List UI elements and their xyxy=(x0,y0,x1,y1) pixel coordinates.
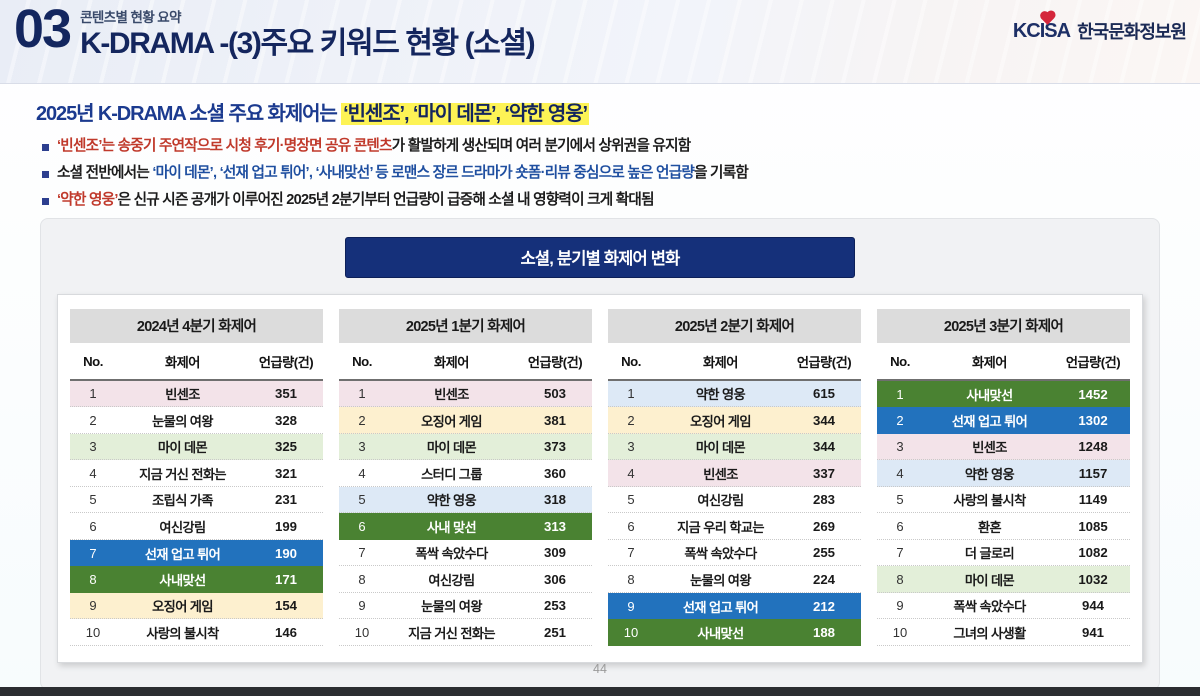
cell-value: 224 xyxy=(787,572,861,587)
cell-name: 오징어 게임 xyxy=(654,411,787,430)
bullet-plain-2: 을 기록함 xyxy=(694,165,748,181)
table-row: 8마이 데몬1032 xyxy=(877,566,1130,593)
quarter-table-title: 2025년 2분기 화제어 xyxy=(608,309,861,343)
col-header-name: 화제어 xyxy=(116,352,249,371)
cell-name: 지금 거신 전화는 xyxy=(116,464,249,483)
cell-name: 마이 데몬 xyxy=(385,437,518,456)
cell-no: 3 xyxy=(70,439,116,454)
cell-value: 373 xyxy=(518,439,592,454)
cell-name: 빈센조 xyxy=(923,437,1056,456)
cell-name: 사내 맞선 xyxy=(385,517,518,536)
table-body: 1빈센조351 2눈물의 여왕328 3마이 데몬325 4지금 거신 전화는3… xyxy=(70,381,323,646)
table-row: 2오징어 게임344 xyxy=(608,407,861,434)
cell-value: 146 xyxy=(249,625,323,640)
bullet-marker-icon xyxy=(42,144,49,151)
table-row: 10지금 거신 전화는251 xyxy=(339,619,592,646)
cell-name: 사랑의 불시착 xyxy=(923,490,1056,509)
bullet-item: ‘빈센조’는 송중기 주연작으로 시청 후기·명장면 공유 콘텐츠가 활발하게 … xyxy=(42,137,1174,156)
cell-value: 283 xyxy=(787,492,861,507)
table-row: 3마이 데몬344 xyxy=(608,434,861,461)
organization-name-kr: 한국문화정보원 xyxy=(1077,18,1186,44)
bullet-plain: 은 신규 시즌 공개가 이루어진 2025년 2분기부터 언급량이 급증해 소셜… xyxy=(118,192,654,208)
table-row: 1빈센조351 xyxy=(70,381,323,408)
cell-value: 212 xyxy=(787,599,861,614)
table-row: 6여신강림199 xyxy=(70,513,323,540)
slide: 03 콘텐츠별 현황 요약 K-DRAMA -(3)주요 키워드 현황 (소셜)… xyxy=(0,0,1200,696)
col-header-name: 화제어 xyxy=(654,352,787,371)
cell-value: 313 xyxy=(518,519,592,534)
table-row: 4빈센조337 xyxy=(608,460,861,487)
table-body: 1빈센조503 2오징어 게임381 3마이 데몬373 4스터디 그룹360 … xyxy=(339,381,592,646)
cell-no: 2 xyxy=(339,413,385,428)
bullet-emphasis-red: ‘약한 영웅’ xyxy=(57,192,118,208)
cell-name: 폭싹 속았수다 xyxy=(654,543,787,562)
cell-no: 10 xyxy=(877,625,923,640)
cell-name: 그녀의 사생활 xyxy=(923,623,1056,642)
cell-no: 7 xyxy=(339,545,385,560)
cell-no: 6 xyxy=(70,519,116,534)
cell-name: 오징어 게임 xyxy=(116,596,249,615)
cell-no: 3 xyxy=(339,439,385,454)
table-row: 7폭싹 속았수다255 xyxy=(608,540,861,567)
bullet-emphasis-red: ‘빈센조’ xyxy=(57,138,102,154)
cell-value: 344 xyxy=(787,439,861,454)
table-row: 10그녀의 사생활941 xyxy=(877,619,1130,646)
cell-no: 1 xyxy=(608,386,654,401)
bullet-text: 소셜 전반에서는 ‘마이 데몬’, ‘선재 업고 튀어’, ‘사내맞선’ 등 로… xyxy=(57,164,748,183)
cell-value: 344 xyxy=(787,413,861,428)
cell-no: 9 xyxy=(877,598,923,613)
quarter-table: 2025년 2분기 화제어 No. 화제어 언급량(건) 1약한 영웅615 2… xyxy=(608,309,861,646)
cell-no: 8 xyxy=(608,572,654,587)
table-column-headers: No. 화제어 언급량(건) xyxy=(70,343,323,381)
table-column-headers: No. 화제어 언급량(건) xyxy=(608,343,861,381)
header-kicker: 콘텐츠별 현황 요약 xyxy=(80,11,534,26)
bullet-item: ‘약한 영웅’은 신규 시즌 공개가 이루어진 2025년 2분기부터 언급량이… xyxy=(42,191,1174,210)
bottom-bar xyxy=(0,687,1200,696)
cell-no: 10 xyxy=(70,625,116,640)
cell-name: 눈물의 여왕 xyxy=(654,570,787,589)
cell-no: 8 xyxy=(339,572,385,587)
cell-no: 8 xyxy=(70,572,116,587)
table-row: 1빈센조503 xyxy=(339,381,592,408)
table-row: 2오징어 게임381 xyxy=(339,407,592,434)
col-header-name: 화제어 xyxy=(923,352,1056,371)
quarter-table-title: 2025년 3분기 화제어 xyxy=(877,309,1130,343)
table-row: 3빈센조1248 xyxy=(877,434,1130,461)
table-row: 9오징어 게임154 xyxy=(70,593,323,620)
table-row: 1약한 영웅615 xyxy=(608,381,861,408)
col-header-value: 언급량(건) xyxy=(518,352,592,371)
cell-no: 6 xyxy=(877,519,923,534)
cell-value: 188 xyxy=(787,625,861,640)
bullet-emphasis-red-2: 는 송중기 주연작으로 시청 후기·명장면 공유 콘텐츠 xyxy=(102,138,392,154)
cell-name: 눈물의 여왕 xyxy=(385,596,518,615)
cell-no: 4 xyxy=(608,466,654,481)
cell-value: 1302 xyxy=(1056,413,1130,428)
cell-value: 1157 xyxy=(1056,466,1130,481)
cell-value: 325 xyxy=(249,439,323,454)
quarter-table: 2025년 1분기 화제어 No. 화제어 언급량(건) 1빈센조503 2오징… xyxy=(339,309,592,646)
cell-no: 5 xyxy=(339,492,385,507)
cell-no: 8 xyxy=(877,572,923,587)
cell-name: 사내맞선 xyxy=(923,385,1056,404)
cell-no: 5 xyxy=(608,492,654,507)
kcisa-logo-text: KCISA xyxy=(1013,20,1070,42)
lead-highlight: ‘빈센조’, ‘마이 데몬’, ‘약한 영웅’ xyxy=(341,103,589,125)
cell-no: 6 xyxy=(339,519,385,534)
quarter-table: 2025년 3분기 화제어 No. 화제어 언급량(건) 1사내맞선1452 2… xyxy=(877,309,1130,646)
cell-value: 321 xyxy=(249,466,323,481)
cell-value: 269 xyxy=(787,519,861,534)
slide-body: 2025년 K-DRAMA 소셜 주요 화제어는 ‘빈센조’, ‘마이 데몬’,… xyxy=(0,84,1200,690)
cell-no: 9 xyxy=(608,599,654,614)
cell-name: 조립식 가족 xyxy=(116,490,249,509)
cell-no: 6 xyxy=(608,519,654,534)
cell-value: 251 xyxy=(518,625,592,640)
cell-name: 폭싹 속았수다 xyxy=(385,543,518,562)
page-number: 44 xyxy=(0,662,1200,676)
table-row: 4약한 영웅1157 xyxy=(877,460,1130,487)
table-row: 8여신강림306 xyxy=(339,566,592,593)
cell-name: 마이 데몬 xyxy=(923,570,1056,589)
cell-no: 5 xyxy=(70,492,116,507)
cell-value: 1248 xyxy=(1056,439,1130,454)
cell-no: 10 xyxy=(339,625,385,640)
cell-value: 1085 xyxy=(1056,519,1130,534)
table-row: 10사내맞선188 xyxy=(608,619,861,646)
cell-name: 사내맞선 xyxy=(654,623,787,642)
cell-name: 약한 영웅 xyxy=(923,464,1056,483)
cell-no: 9 xyxy=(70,598,116,613)
quarter-table-title: 2024년 4분기 화제어 xyxy=(70,309,323,343)
cell-value: 1149 xyxy=(1056,492,1130,507)
cell-value: 306 xyxy=(518,572,592,587)
table-row: 3마이 데몬373 xyxy=(339,434,592,461)
cell-value: 171 xyxy=(249,572,323,587)
cell-value: 231 xyxy=(249,492,323,507)
cell-no: 4 xyxy=(339,466,385,481)
bullet-plain: 가 활발하게 생산되며 여러 분기에서 상위권을 유지함 xyxy=(392,138,691,154)
table-row: 2눈물의 여왕328 xyxy=(70,407,323,434)
cell-name: 약한 영웅 xyxy=(385,490,518,509)
col-header-value: 언급량(건) xyxy=(1056,352,1130,371)
table-row: 9선재 업고 튀어212 xyxy=(608,593,861,620)
cell-name: 선재 업고 튀어 xyxy=(116,544,249,563)
bullet-marker-icon xyxy=(42,198,49,205)
cell-name: 여신강림 xyxy=(654,490,787,509)
table-row: 8눈물의 여왕224 xyxy=(608,566,861,593)
cell-value: 1032 xyxy=(1056,572,1130,587)
chart-panel: 소셜, 분기별 화제어 변화 2024년 4분기 화제어 No. 화제어 언급량… xyxy=(40,218,1160,690)
cell-no: 1 xyxy=(877,387,923,402)
cell-name: 사랑의 불시착 xyxy=(116,623,249,642)
chart-title-banner: 소셜, 분기별 화제어 변화 xyxy=(345,237,855,278)
table-row: 4스터디 그룹360 xyxy=(339,460,592,487)
cell-name: 오징어 게임 xyxy=(385,411,518,430)
table-row: 3마이 데몬325 xyxy=(70,434,323,461)
table-row: 5약한 영웅318 xyxy=(339,487,592,514)
header-left-group: 03 콘텐츠별 현황 요약 K-DRAMA -(3)주요 키워드 현황 (소셜) xyxy=(14,2,534,60)
cell-value: 1082 xyxy=(1056,545,1130,560)
bullet-emphasis-blue: ‘마이 데몬’, ‘선재 업고 튀어’, ‘사내맞선’ 등 로맨스 장르 드라마… xyxy=(152,165,694,181)
table-row: 9폭싹 속았수다944 xyxy=(877,593,1130,620)
cell-name: 약한 영웅 xyxy=(654,384,787,403)
cell-name: 여신강림 xyxy=(116,517,249,536)
table-row: 1사내맞선1452 xyxy=(877,381,1130,408)
cell-value: 190 xyxy=(249,546,323,561)
table-column-headers: No. 화제어 언급량(건) xyxy=(877,343,1130,381)
bullet-marker-icon xyxy=(42,171,49,178)
cell-name: 지금 거신 전화는 xyxy=(385,623,518,642)
lead-statement: 2025년 K-DRAMA 소셜 주요 화제어는 ‘빈센조’, ‘마이 데몬’,… xyxy=(36,102,1174,127)
cell-no: 3 xyxy=(608,439,654,454)
quarter-table: 2024년 4분기 화제어 No. 화제어 언급량(건) 1빈센조351 2눈물… xyxy=(70,309,323,646)
cell-value: 328 xyxy=(249,413,323,428)
cell-name: 스터디 그룹 xyxy=(385,464,518,483)
cell-value: 381 xyxy=(518,413,592,428)
table-row: 9눈물의 여왕253 xyxy=(339,593,592,620)
cell-name: 빈센조 xyxy=(654,464,787,483)
col-header-value: 언급량(건) xyxy=(249,352,323,371)
col-header-no: No. xyxy=(339,354,385,369)
slide-header: 03 콘텐츠별 현황 요약 K-DRAMA -(3)주요 키워드 현황 (소셜)… xyxy=(0,0,1200,84)
table-body: 1약한 영웅615 2오징어 게임344 3마이 데몬344 4빈센조337 5… xyxy=(608,381,861,646)
cell-no: 9 xyxy=(339,598,385,613)
table-row: 5여신강림283 xyxy=(608,487,861,514)
cell-value: 337 xyxy=(787,466,861,481)
table-row: 7폭싹 속았수다309 xyxy=(339,540,592,567)
table-row: 6사내 맞선313 xyxy=(339,513,592,540)
col-header-no: No. xyxy=(877,354,923,369)
cell-no: 2 xyxy=(877,413,923,428)
col-header-no: No. xyxy=(70,354,116,369)
table-row: 5조립식 가족231 xyxy=(70,487,323,514)
col-header-no: No. xyxy=(608,354,654,369)
cell-value: 154 xyxy=(249,598,323,613)
cell-no: 3 xyxy=(877,439,923,454)
cell-name: 빈센조 xyxy=(116,384,249,403)
cell-name: 더 글로리 xyxy=(923,543,1056,562)
cell-name: 지금 우리 학교는 xyxy=(654,517,787,536)
cell-value: 199 xyxy=(249,519,323,534)
cell-name: 마이 데몬 xyxy=(654,437,787,456)
cell-no: 2 xyxy=(70,413,116,428)
table-row: 7선재 업고 튀어190 xyxy=(70,540,323,567)
col-header-value: 언급량(건) xyxy=(787,352,861,371)
table-row: 2선재 업고 튀어1302 xyxy=(877,407,1130,434)
cell-value: 941 xyxy=(1056,625,1130,640)
cell-value: 360 xyxy=(518,466,592,481)
cell-name: 환혼 xyxy=(923,517,1056,536)
cell-name: 여신강림 xyxy=(385,570,518,589)
cell-no: 7 xyxy=(608,545,654,560)
cell-name: 마이 데몬 xyxy=(116,437,249,456)
bullet-text: ‘빈센조’는 송중기 주연작으로 시청 후기·명장면 공유 콘텐츠가 활발하게 … xyxy=(57,137,691,156)
cell-name: 사내맞선 xyxy=(116,570,249,589)
cell-name: 눈물의 여왕 xyxy=(116,411,249,430)
quarter-table-title: 2025년 1분기 화제어 xyxy=(339,309,592,343)
table-column-headers: No. 화제어 언급량(건) xyxy=(339,343,592,381)
header-text-group: 콘텐츠별 현황 요약 K-DRAMA -(3)주요 키워드 현황 (소셜) xyxy=(80,11,534,60)
bullet-plain: 소셜 전반에서는 xyxy=(57,165,152,181)
cell-no: 7 xyxy=(877,545,923,560)
bullet-list: ‘빈센조’는 송중기 주연작으로 시청 후기·명장면 공유 콘텐츠가 활발하게 … xyxy=(42,137,1174,210)
bullet-item: 소셜 전반에서는 ‘마이 데몬’, ‘선재 업고 튀어’, ‘사내맞선’ 등 로… xyxy=(42,164,1174,183)
section-number: 03 xyxy=(14,2,70,60)
kcisa-wordmark: KCISA xyxy=(1013,20,1070,43)
cell-no: 5 xyxy=(877,492,923,507)
table-row: 7더 글로리1082 xyxy=(877,540,1130,567)
table-row: 10사랑의 불시착146 xyxy=(70,619,323,646)
cell-value: 1452 xyxy=(1056,387,1130,402)
cell-value: 253 xyxy=(518,598,592,613)
cell-name: 선재 업고 튀어 xyxy=(923,411,1056,430)
cell-no: 4 xyxy=(70,466,116,481)
cell-no: 7 xyxy=(70,546,116,561)
cell-name: 선재 업고 튀어 xyxy=(654,597,787,616)
table-row: 8사내맞선171 xyxy=(70,566,323,593)
organization-logo: KCISA 한국문화정보원 xyxy=(1013,18,1186,44)
cell-value: 944 xyxy=(1056,598,1130,613)
table-row: 5사랑의 불시착1149 xyxy=(877,487,1130,514)
table-row: 6환혼1085 xyxy=(877,513,1130,540)
table-row: 6지금 우리 학교는269 xyxy=(608,513,861,540)
cell-value: 309 xyxy=(518,545,592,560)
cell-value: 351 xyxy=(249,386,323,401)
lead-prefix: 2025년 K-DRAMA 소셜 주요 화제어는 xyxy=(36,103,341,125)
cell-no: 1 xyxy=(339,386,385,401)
cell-value: 255 xyxy=(787,545,861,560)
quarter-tables-container: 2024년 4분기 화제어 No. 화제어 언급량(건) 1빈센조351 2눈물… xyxy=(57,294,1143,663)
table-body: 1사내맞선1452 2선재 업고 튀어1302 3빈센조1248 4약한 영웅1… xyxy=(877,381,1130,646)
cell-no: 1 xyxy=(70,386,116,401)
cell-no: 4 xyxy=(877,466,923,481)
page-title: K-DRAMA -(3)주요 키워드 현황 (소셜) xyxy=(80,28,534,60)
cell-no: 2 xyxy=(608,413,654,428)
cell-name: 빈센조 xyxy=(385,384,518,403)
cell-value: 503 xyxy=(518,386,592,401)
table-row: 4지금 거신 전화는321 xyxy=(70,460,323,487)
cell-value: 318 xyxy=(518,492,592,507)
bullet-text: ‘약한 영웅’은 신규 시즌 공개가 이루어진 2025년 2분기부터 언급량이… xyxy=(57,191,654,210)
cell-no: 10 xyxy=(608,625,654,640)
cell-name: 폭싹 속았수다 xyxy=(923,596,1056,615)
cell-value: 615 xyxy=(787,386,861,401)
col-header-name: 화제어 xyxy=(385,352,518,371)
